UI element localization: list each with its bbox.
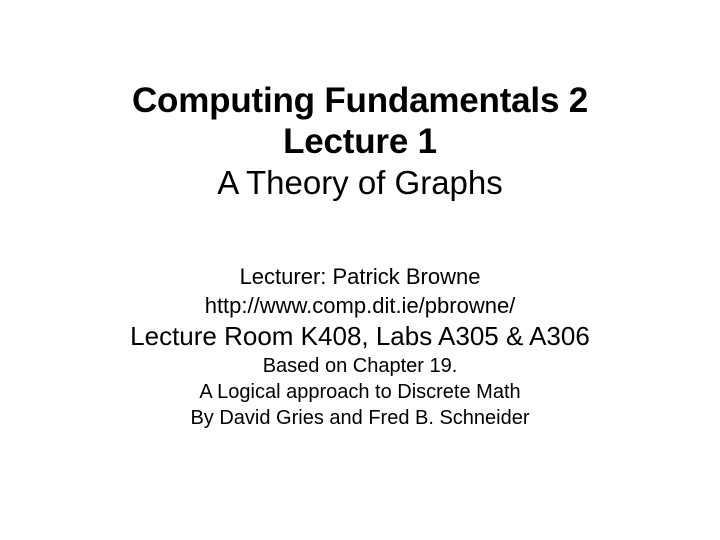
course-url: http://www.comp.dit.ie/pbrowne/ [0, 291, 720, 320]
textbook-title: A Logical approach to Discrete Math [0, 379, 720, 405]
lecture-number: Lecture 1 [0, 121, 720, 162]
page-title: Computing Fundamentals 2 [0, 80, 720, 121]
slide-subtitle: A Theory of Graphs [0, 162, 720, 204]
slide-title-block: Computing Fundamentals 2 Lecture 1 A The… [0, 80, 720, 204]
room-locations: Lecture Room K408, Labs A305 & A306 [0, 320, 720, 353]
presentation-slide: Computing Fundamentals 2 Lecture 1 A The… [0, 0, 720, 540]
chapter-reference: Based on Chapter 19. [0, 353, 720, 379]
lecturer-name: Lecturer: Patrick Browne [0, 262, 720, 291]
textbook-authors: By David Gries and Fred B. Schneider [0, 405, 720, 431]
slide-body-block: Lecturer: Patrick Browne http://www.comp… [0, 262, 720, 431]
